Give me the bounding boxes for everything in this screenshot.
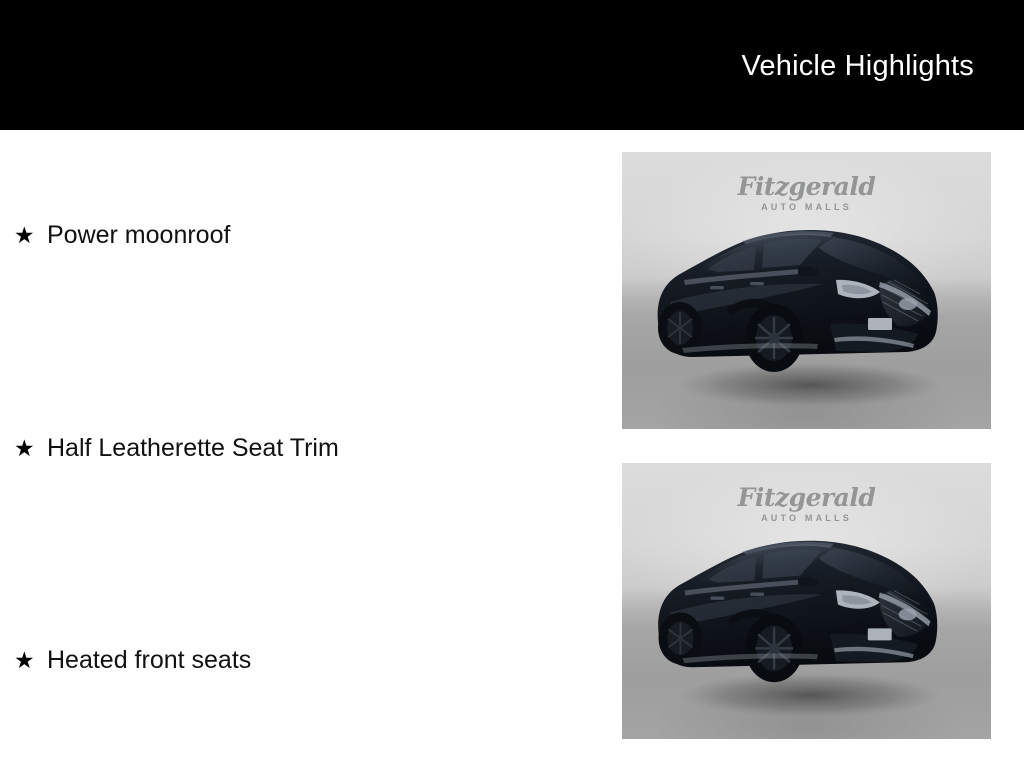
list-item: ★ Power moonroof — [14, 220, 230, 250]
page-title: Vehicle Highlights — [741, 49, 974, 83]
highlight-label: Power moonroof — [47, 220, 230, 250]
list-item: ★ Half Leatherette Seat Trim — [14, 433, 339, 463]
vehicle-highlights-list: ★ Power moonroof ★ Half Leatherette Seat… — [0, 130, 600, 768]
list-item: ★ Heated front seats — [14, 645, 251, 675]
page-header: Vehicle Highlights — [0, 0, 1024, 130]
star-icon: ★ — [14, 437, 34, 460]
vehicle-photo-1[interactable]: Fitzgerald AUTO MALLS — [622, 152, 991, 429]
suv-vehicle-illustration — [622, 152, 991, 429]
vehicle-photo-2[interactable]: Fitzgerald AUTO MALLS — [622, 463, 991, 739]
highlight-label: Heated front seats — [47, 645, 251, 675]
vehicle-highlights-page: Vehicle Highlights ★ Power moonroof ★ Ha… — [0, 0, 1024, 768]
star-icon: ★ — [14, 224, 34, 247]
suv-vehicle-illustration — [622, 463, 991, 739]
highlight-label: Half Leatherette Seat Trim — [47, 433, 339, 463]
star-icon: ★ — [14, 649, 34, 672]
